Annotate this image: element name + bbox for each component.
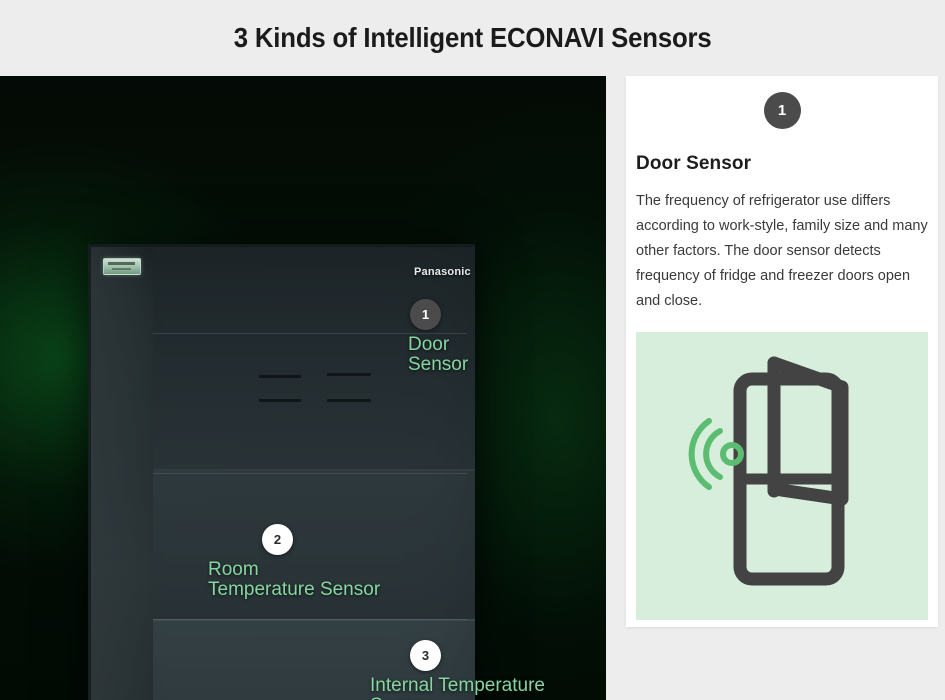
card-badge-row: 1 bbox=[626, 76, 938, 129]
fridge-door-bin-edge bbox=[327, 399, 371, 402]
page-header: 3 Kinds of Intelligent ECONAVI Sensors bbox=[0, 0, 945, 76]
card-step-badge: 1 bbox=[764, 92, 801, 129]
fridge-door-inner-panel bbox=[91, 247, 153, 700]
sensor-marker-label-2: Room Temperature Sensor bbox=[208, 560, 380, 600]
panasonic-brand-logo: Panasonic bbox=[414, 266, 471, 278]
card-title: Door Sensor bbox=[636, 153, 938, 175]
sensor-marker-badge-1[interactable]: 1 bbox=[410, 299, 441, 330]
page-title: 3 Kinds of Intelligent ECONAVI Sensors bbox=[234, 22, 712, 54]
fridge-shelf-line bbox=[153, 473, 467, 474]
door-sensor-fridge-icon bbox=[682, 349, 882, 604]
sensor-marker-badge-2[interactable]: 2 bbox=[262, 524, 293, 555]
sensor-marker-label-1: Door Sensor bbox=[408, 335, 468, 375]
sensor-marker-room-temperature[interactable]: 2 Room Temperature Sensor bbox=[208, 524, 380, 600]
fridge-door-bin-edge bbox=[259, 375, 301, 378]
card-description: The frequency of refrigerator use differ… bbox=[636, 189, 928, 314]
card-illustration bbox=[636, 332, 928, 620]
fridge-shelf-line bbox=[153, 619, 467, 620]
content-area: ❀ ✿ ◔ ◊ Panasonic 1 Door Sensor 2 Room T… bbox=[0, 76, 945, 700]
sensor-marker-internal-temperature[interactable]: 3 Internal Temperature Sensor bbox=[370, 640, 545, 700]
fridge-door-bin-edge bbox=[327, 373, 371, 376]
fridge-door-bin-edge bbox=[259, 399, 301, 402]
refrigerator-visual-panel: ❀ ✿ ◔ ◊ Panasonic 1 Door Sensor 2 Room T… bbox=[0, 76, 606, 700]
sensor-marker-door[interactable]: 1 Door Sensor bbox=[410, 299, 468, 375]
econavi-label-sticker bbox=[103, 258, 141, 275]
sensor-marker-badge-3[interactable]: 3 bbox=[410, 640, 441, 671]
sensor-marker-label-3: Internal Temperature Sensor bbox=[370, 676, 545, 700]
sensor-info-card: 1 Door Sensor The frequency of refrigera… bbox=[626, 76, 938, 627]
